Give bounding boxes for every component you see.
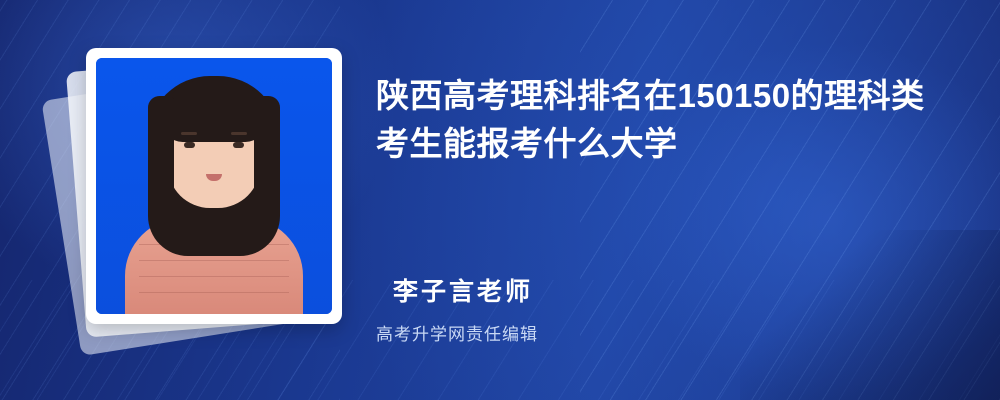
portrait-photo-stack (52, 36, 342, 346)
portrait-hair-front (162, 80, 266, 142)
portrait-hair-side-right (254, 96, 280, 224)
photo-card-front (86, 48, 342, 324)
portrait-eye-right (233, 142, 244, 148)
portrait-hair-side-left (148, 96, 174, 224)
dress-seam-4 (139, 292, 289, 293)
dress-seam-2 (139, 260, 289, 261)
article-headline: 陕西高考理科排名在150150的理科类考生能报考什么大学 (376, 72, 956, 168)
portrait-photo (96, 58, 332, 314)
author-role: 高考升学网责任编辑 (376, 320, 538, 345)
portrait-eyebrow-left (181, 132, 197, 135)
background-corner-shadow (740, 230, 1000, 400)
portrait-eyebrow-right (231, 132, 247, 135)
author-name: 李子言老师 (393, 272, 533, 308)
article-header-banner: 陕西高考理科排名在150150的理科类考生能报考什么大学 李子言老师 高考升学网… (0, 0, 1000, 400)
dress-seam-3 (139, 276, 289, 277)
portrait-eye-left (184, 142, 195, 148)
